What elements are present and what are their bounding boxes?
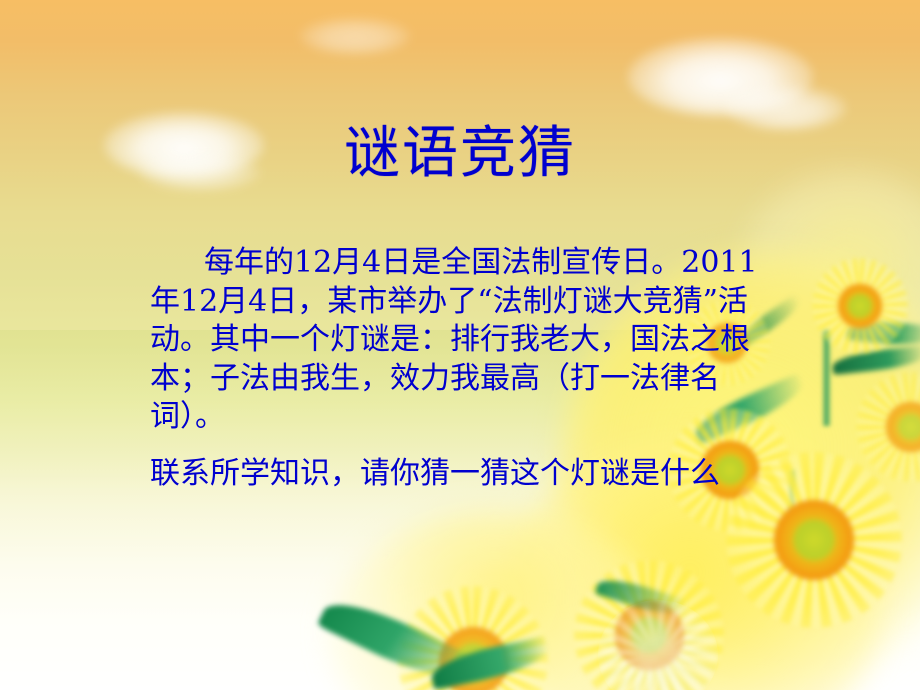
presentation-slide: 谜语竞猜 每年的12月4日是全国法制宣传日。2011年12月4日，某市举办了“法…	[0, 0, 920, 690]
slide-title: 谜语竞猜	[0, 126, 920, 182]
body-paragraph-question: 联系所学知识，请你猜一猜这个灯谜是什么	[150, 455, 770, 494]
slide-content: 谜语竞猜 每年的12月4日是全国法制宣传日。2011年12月4日，某市举办了“法…	[0, 0, 920, 690]
body-paragraph-riddle: 每年的12月4日是全国法制宣传日。2011年12月4日，某市举办了“法制灯谜大竞…	[150, 244, 770, 437]
slide-body: 每年的12月4日是全国法制宣传日。2011年12月4日，某市举办了“法制灯谜大竞…	[150, 244, 770, 493]
